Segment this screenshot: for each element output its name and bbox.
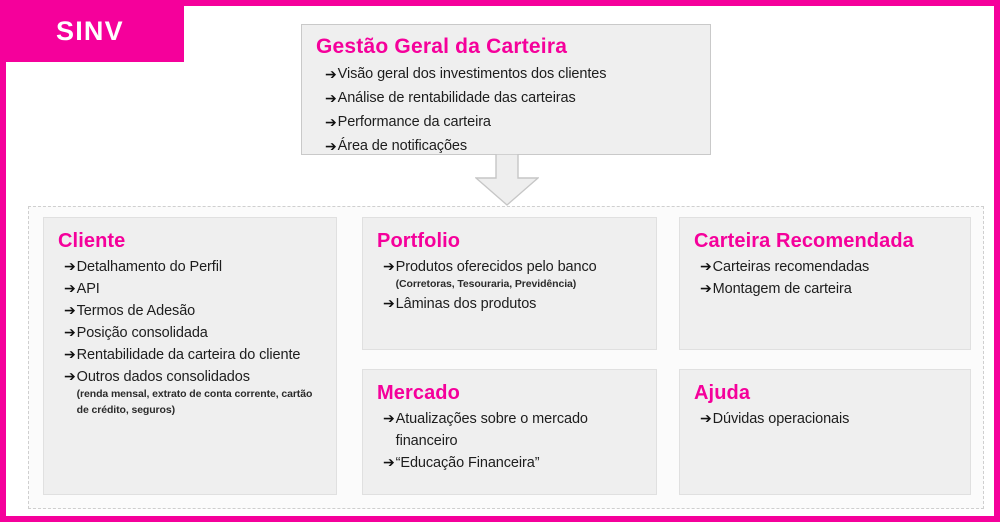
bullet-arrow-icon: ➔ [64, 278, 76, 299]
card-title: Portfolio [377, 228, 642, 254]
list-item-label: Termos de Adesão [77, 300, 196, 322]
list-item-label: Visão geral dos investimentos dos client… [338, 63, 607, 87]
list-item: ➔ Termos de Adesão [64, 300, 322, 322]
card-portfolio[interactable]: Portfolio ➔ Produtos oferecidos pelo ban… [362, 217, 657, 350]
list-item: ➔ Análise de rentabilidade das carteiras [325, 87, 696, 111]
bullet-arrow-icon: ➔ [325, 111, 337, 134]
card-carteira-recomendada[interactable]: Carteira Recomendada ➔ Carteiras recomen… [679, 217, 971, 350]
bullet-arrow-icon: ➔ [325, 87, 337, 110]
list-item-label: API [77, 278, 100, 300]
list-item: ➔ Atualizações sobre o mercado financeir… [383, 408, 642, 452]
bullet-arrow-icon: ➔ [700, 256, 712, 277]
bullet-arrow-icon: ➔ [64, 344, 76, 365]
list-item: ➔ Montagem de carteira [700, 278, 956, 300]
list-item: ➔ Produtos oferecidos pelo banco (Corret… [383, 256, 642, 293]
brand-label: SINV [56, 18, 124, 45]
card-list: ➔ Detalhamento do Perfil ➔ API ➔ Termos … [58, 256, 322, 419]
down-arrow-icon [475, 154, 539, 206]
card-list: ➔ Carteiras recomendadas ➔ Montagem de c… [694, 256, 956, 300]
header-card-gestao-geral: Gestão Geral da Carteira ➔ Visão geral d… [301, 24, 711, 155]
list-item-label: Área de notificações [338, 135, 467, 159]
bullet-arrow-icon: ➔ [64, 256, 76, 277]
card-list: ➔ Atualizações sobre o mercado financeir… [377, 408, 642, 474]
list-item-label: Dúvidas operacionais [713, 408, 850, 430]
bullet-arrow-icon: ➔ [325, 135, 337, 158]
list-item-label: Outros dados consolidados [77, 366, 322, 388]
list-item: ➔ “Educação Financeira” [383, 452, 642, 474]
header-card-title: Gestão Geral da Carteira [316, 34, 696, 60]
bullet-arrow-icon: ➔ [383, 256, 395, 277]
modules-container: Cliente ➔ Detalhamento do Perfil ➔ API ➔… [28, 206, 984, 509]
card-list: ➔ Dúvidas operacionais [694, 408, 956, 430]
list-item-label: Carteiras recomendadas [713, 256, 870, 278]
list-item-label: Análise de rentabilidade das carteiras [338, 87, 576, 111]
brand-tag: SINV [0, 0, 184, 62]
list-item: ➔ Visão geral dos investimentos dos clie… [325, 63, 696, 87]
bullet-arrow-icon: ➔ [325, 63, 337, 86]
list-item: ➔ Carteiras recomendadas [700, 256, 956, 278]
card-title: Carteira Recomendada [694, 228, 956, 254]
diagram-page: SINV Gestão Geral da Carteira ➔ Visão ge… [0, 0, 1000, 522]
list-item-label: Montagem de carteira [713, 278, 852, 300]
list-item: ➔ API [64, 278, 322, 300]
card-mercado[interactable]: Mercado ➔ Atualizações sobre o mercado f… [362, 369, 657, 495]
list-item-label: Produtos oferecidos pelo banco [396, 256, 597, 278]
card-title: Cliente [58, 228, 322, 254]
list-item-label: Atualizações sobre o mercado financeiro [396, 408, 642, 452]
bullet-arrow-icon: ➔ [64, 366, 76, 387]
card-title: Mercado [377, 380, 642, 406]
list-item-label: Lâminas dos produtos [396, 293, 537, 315]
bullet-arrow-icon: ➔ [700, 278, 712, 299]
list-item-label: Detalhamento do Perfil [77, 256, 222, 278]
list-item-note: (renda mensal, extrato de conta corrente… [77, 387, 322, 419]
list-item: ➔ Performance da carteira [325, 111, 696, 135]
bullet-arrow-icon: ➔ [64, 300, 76, 321]
list-item-note: (Corretoras, Tesouraria, Previdência) [396, 277, 597, 293]
list-item-label: Rentabilidade da carteira do cliente [77, 344, 301, 366]
bullet-arrow-icon: ➔ [383, 408, 395, 429]
card-ajuda[interactable]: Ajuda ➔ Dúvidas operacionais [679, 369, 971, 495]
bullet-arrow-icon: ➔ [700, 408, 712, 429]
list-item: ➔ Outros dados consolidados (renda mensa… [64, 366, 322, 419]
list-item-label: Performance da carteira [338, 111, 491, 135]
card-cliente[interactable]: Cliente ➔ Detalhamento do Perfil ➔ API ➔… [43, 217, 337, 495]
card-title: Ajuda [694, 380, 956, 406]
list-item: ➔ Rentabilidade da carteira do cliente [64, 344, 322, 366]
card-list: ➔ Produtos oferecidos pelo banco (Corret… [377, 256, 642, 315]
list-item: ➔ Dúvidas operacionais [700, 408, 956, 430]
header-card-list: ➔ Visão geral dos investimentos dos clie… [316, 63, 696, 158]
list-item-label: “Educação Financeira” [396, 452, 540, 474]
list-item: ➔ Detalhamento do Perfil [64, 256, 322, 278]
list-item: ➔ Posição consolidada [64, 322, 322, 344]
list-item: ➔ Lâminas dos produtos [383, 293, 642, 315]
bullet-arrow-icon: ➔ [64, 322, 76, 343]
bullet-arrow-icon: ➔ [383, 293, 395, 314]
bullet-arrow-icon: ➔ [383, 452, 395, 473]
list-item-label: Posição consolidada [77, 322, 208, 344]
